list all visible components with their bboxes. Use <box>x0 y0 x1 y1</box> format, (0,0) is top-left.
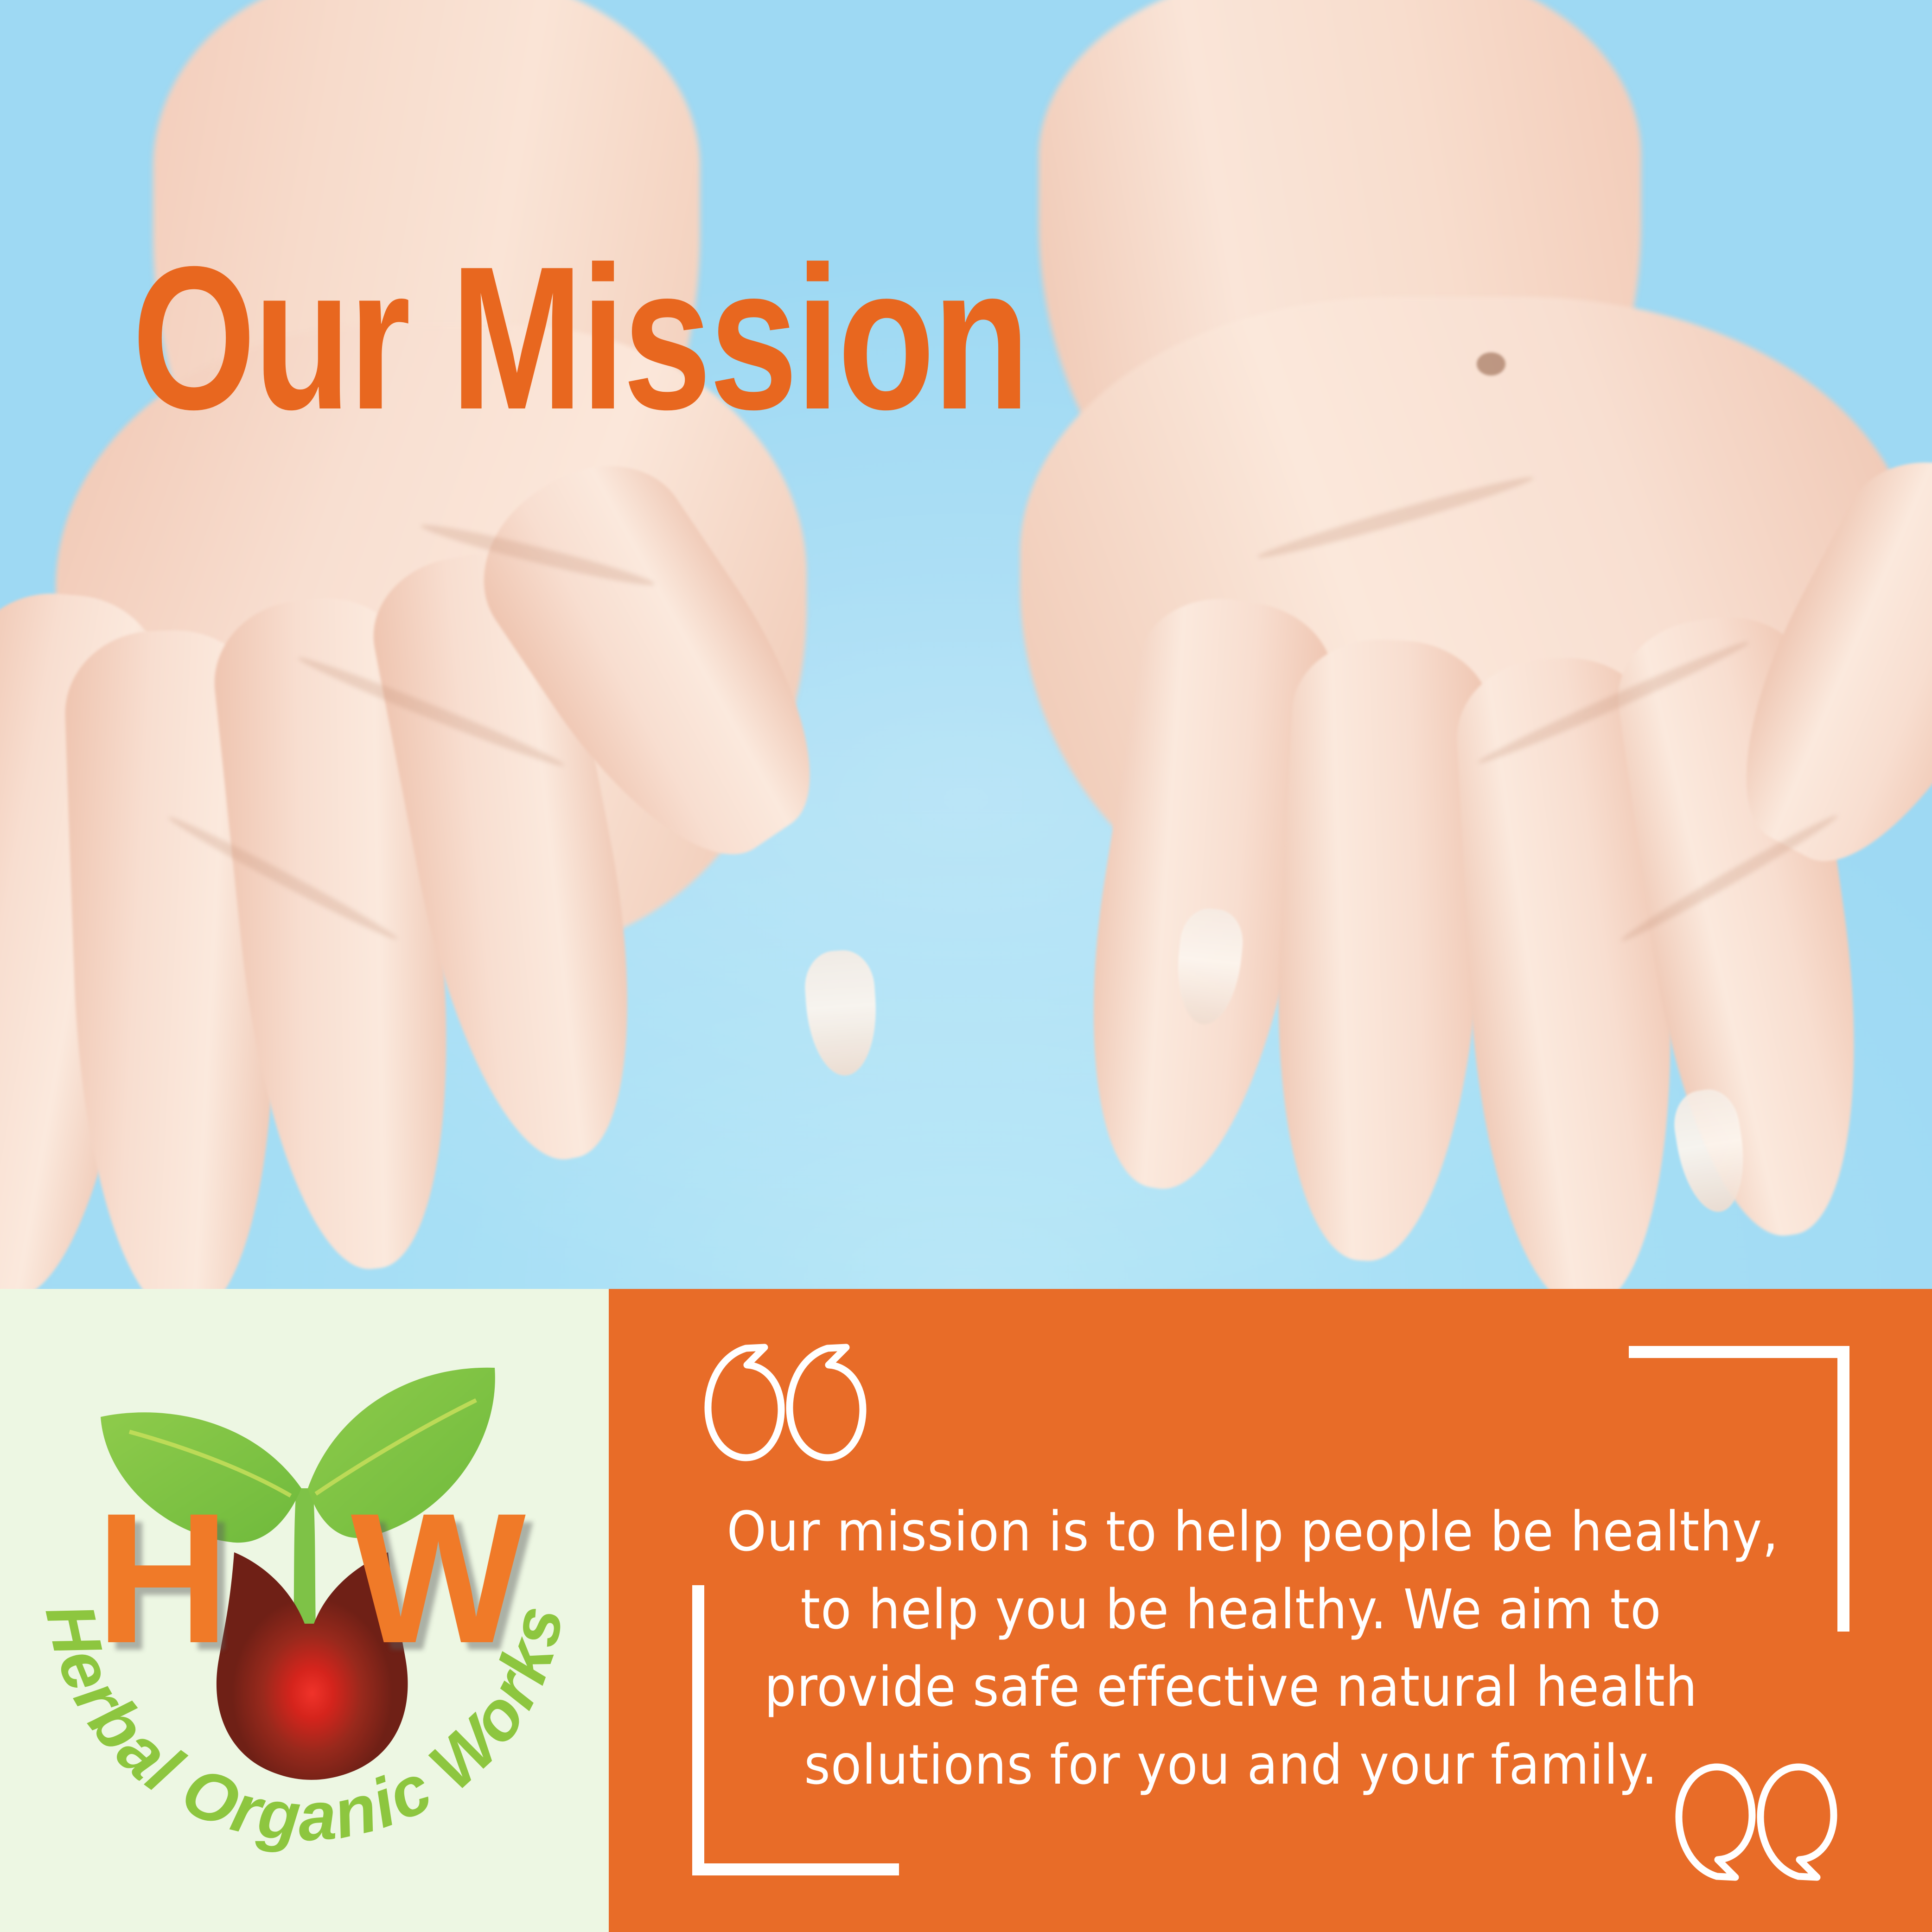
open-quote-icon <box>697 1337 882 1467</box>
quote-line: solutions for you and your family. <box>727 1726 1735 1804</box>
poster-canvas: Our Mission <box>0 0 1932 1932</box>
quote-line: to help you be healthy. We aim to <box>727 1571 1735 1649</box>
quote-line: provide safe effective natural health <box>727 1648 1735 1726</box>
skin-age-spot <box>1477 352 1505 376</box>
quote-line: Our mission is to help people be healthy… <box>727 1493 1735 1571</box>
brand-logo[interactable]: H W Herbal Organic Works <box>31 1333 578 1880</box>
quote-text: Our mission is to help people be healthy… <box>727 1493 1735 1804</box>
logo-tagline: Herbal Organic Works <box>31 1333 578 1880</box>
logo-panel: H W Herbal Organic Works <box>0 1289 609 1932</box>
quote-panel: Our mission is to help people be healthy… <box>609 1289 1932 1932</box>
page-title: Our Mission <box>132 236 1028 440</box>
hero-photo: Our Mission <box>0 0 1932 1289</box>
svg-text:Herbal Organic Works: Herbal Organic Works <box>31 1597 578 1855</box>
bottom-bar: H W Herbal Organic Works <box>0 1289 1932 1932</box>
